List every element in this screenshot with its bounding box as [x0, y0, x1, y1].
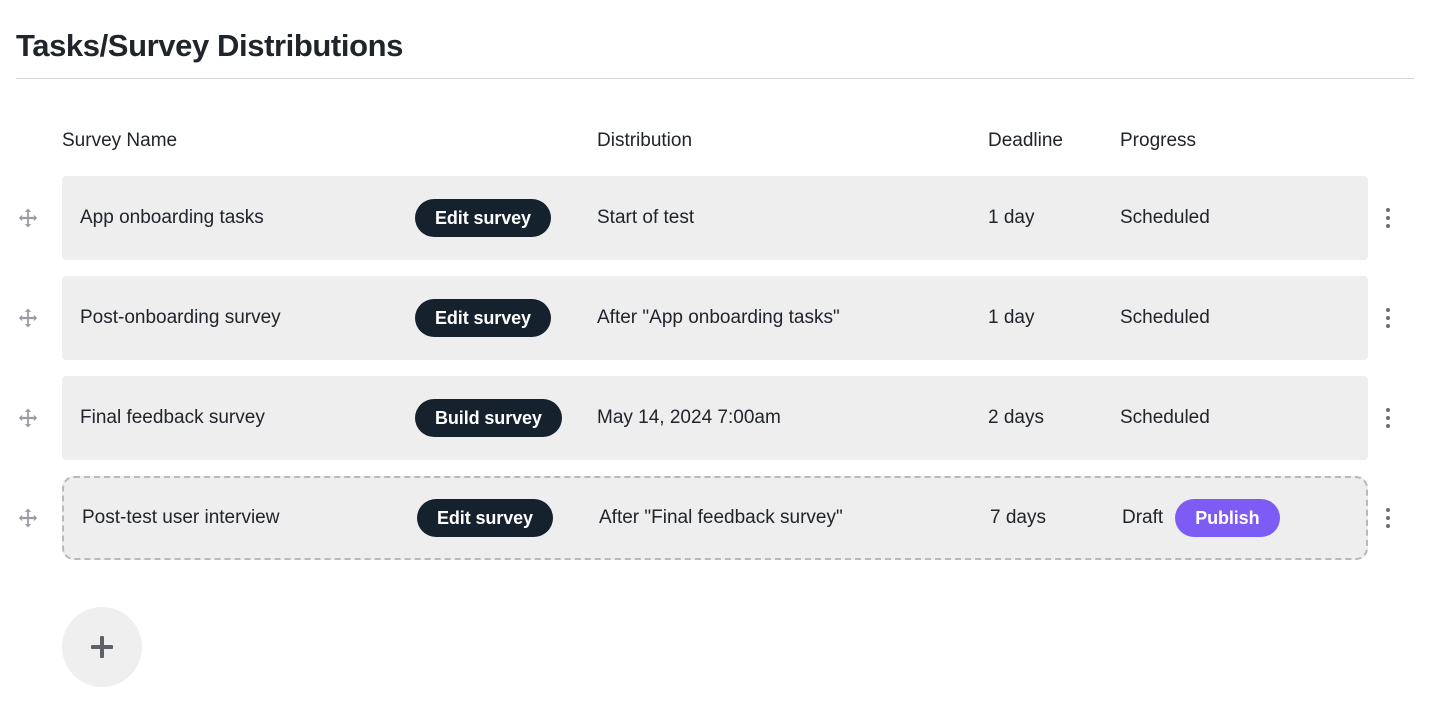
kebab-dot — [1386, 324, 1390, 328]
cell-action: Build survey — [415, 399, 562, 437]
tasks-survey-distributions-page: Tasks/Survey Distributions Survey Name D… — [0, 0, 1430, 718]
cell-progress: Scheduled — [1120, 407, 1210, 429]
build-survey-button[interactable]: Build survey — [415, 399, 562, 437]
table-row: Post-onboarding survey Edit survey After… — [0, 276, 1430, 360]
kebab-dot — [1386, 524, 1390, 528]
kebab-menu-icon[interactable] — [1378, 203, 1398, 233]
kebab-dot — [1386, 424, 1390, 428]
cell-deadline: 2 days — [988, 407, 1044, 429]
move-arrows-icon[interactable] — [16, 306, 40, 330]
kebab-menu-icon[interactable] — [1378, 403, 1398, 433]
progress-status-text: Scheduled — [1120, 407, 1210, 429]
cell-action: Edit survey — [417, 499, 553, 537]
kebab-dot — [1386, 216, 1390, 220]
kebab-dot — [1386, 508, 1390, 512]
cell-distribution: After "Final feedback survey" — [599, 507, 843, 529]
cell-survey-name: Final feedback survey — [80, 407, 265, 429]
edit-survey-button[interactable]: Edit survey — [415, 199, 551, 237]
cell-deadline: 1 day — [988, 207, 1034, 229]
distributions-table: Survey Name Distribution Deadline Progre… — [0, 120, 1430, 576]
cell-progress: Draft Publish — [1122, 499, 1280, 537]
cell-action: Edit survey — [415, 299, 551, 337]
table-row: Final feedback survey Build survey May 1… — [0, 376, 1430, 460]
progress-status-text: Draft — [1122, 507, 1163, 529]
row-content: Final feedback survey Build survey May 1… — [62, 376, 1368, 460]
table-row: Post-test user interview Edit survey Aft… — [0, 476, 1430, 560]
table-body: App onboarding tasks Edit survey Start o… — [0, 176, 1430, 560]
add-row-button[interactable] — [62, 607, 142, 687]
kebab-dot — [1386, 208, 1390, 212]
column-header-progress: Progress — [1120, 130, 1196, 152]
table-header-row: Survey Name Distribution Deadline Progre… — [0, 120, 1430, 176]
plus-icon — [100, 636, 104, 658]
cell-progress: Scheduled — [1120, 307, 1210, 329]
kebab-dot — [1386, 516, 1390, 520]
move-arrows-icon[interactable] — [16, 506, 40, 530]
cell-distribution: May 14, 2024 7:00am — [597, 407, 781, 429]
move-arrows-icon[interactable] — [16, 206, 40, 230]
row-content: Post-onboarding survey Edit survey After… — [62, 276, 1368, 360]
kebab-menu-icon[interactable] — [1378, 503, 1398, 533]
row-content: Post-test user interview Edit survey Aft… — [62, 476, 1368, 560]
cell-action: Edit survey — [415, 199, 551, 237]
table-row: App onboarding tasks Edit survey Start o… — [0, 176, 1430, 260]
kebab-dot — [1386, 308, 1390, 312]
cell-deadline: 1 day — [988, 307, 1034, 329]
publish-button[interactable]: Publish — [1175, 499, 1279, 537]
progress-status-text: Scheduled — [1120, 207, 1210, 229]
column-header-distribution: Distribution — [597, 130, 692, 152]
cell-survey-name: Post-onboarding survey — [80, 307, 281, 329]
kebab-dot — [1386, 416, 1390, 420]
cell-progress: Scheduled — [1120, 207, 1210, 229]
kebab-dot — [1386, 316, 1390, 320]
column-header-survey-name: Survey Name — [62, 130, 177, 152]
cell-survey-name: App onboarding tasks — [80, 207, 264, 229]
cell-distribution: Start of test — [597, 207, 694, 229]
progress-status-text: Scheduled — [1120, 307, 1210, 329]
move-arrows-icon[interactable] — [16, 406, 40, 430]
kebab-menu-icon[interactable] — [1378, 303, 1398, 333]
page-title: Tasks/Survey Distributions — [16, 26, 403, 66]
edit-survey-button[interactable]: Edit survey — [417, 499, 553, 537]
cell-distribution: After "App onboarding tasks" — [597, 307, 840, 329]
kebab-dot — [1386, 224, 1390, 228]
edit-survey-button[interactable]: Edit survey — [415, 299, 551, 337]
column-header-deadline: Deadline — [988, 130, 1063, 152]
kebab-dot — [1386, 408, 1390, 412]
header-divider — [16, 78, 1414, 79]
cell-survey-name: Post-test user interview — [82, 507, 279, 529]
cell-deadline: 7 days — [990, 507, 1046, 529]
row-content: App onboarding tasks Edit survey Start o… — [62, 176, 1368, 260]
